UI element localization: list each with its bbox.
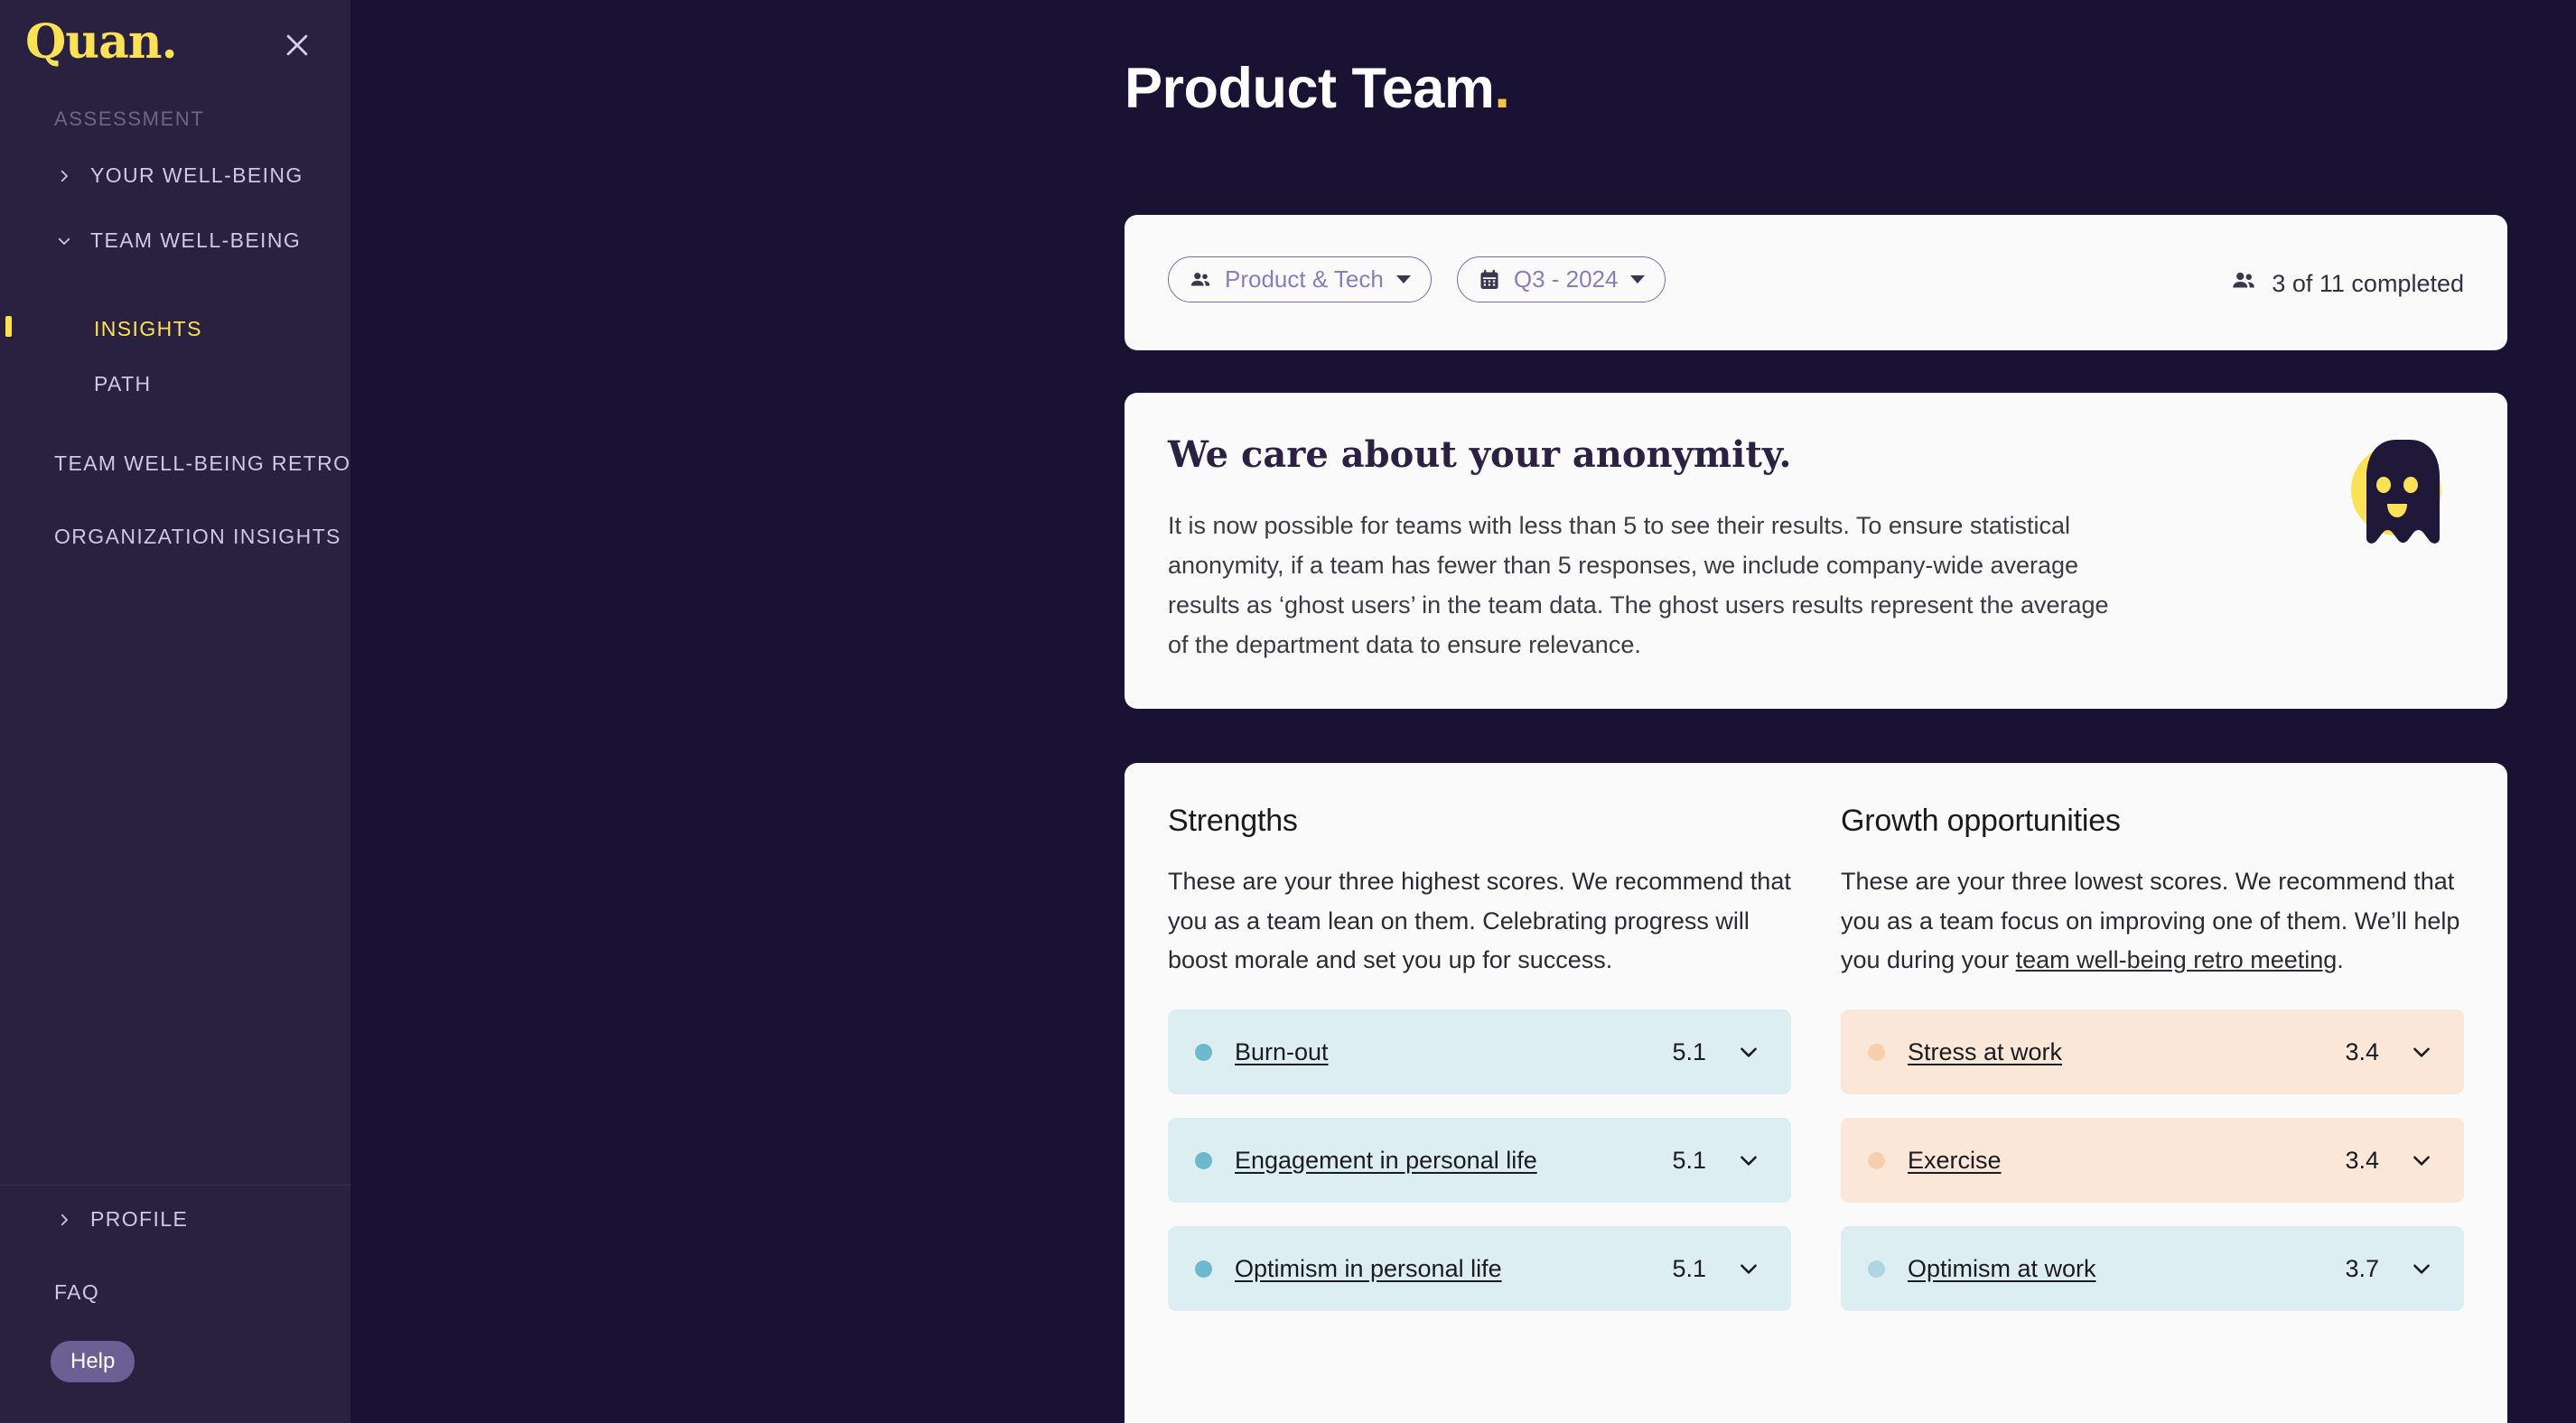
sidebar-item-label: YOUR WELL-BEING [90, 163, 303, 188]
growth-body: These are your three lowest scores. We r… [1841, 862, 2464, 981]
score-row[interactable]: Engagement in personal life 5.1 [1168, 1118, 1791, 1203]
sidebar-item-label: TEAM WELL-BEING RETRO [54, 451, 350, 476]
score-dot-icon [1868, 1260, 1885, 1278]
active-indicator-bar [5, 316, 12, 337]
chevron-down-icon [1630, 275, 1645, 284]
score-label[interactable]: Stress at work [1908, 1038, 2062, 1066]
score-dot-icon [1195, 1152, 1212, 1169]
close-icon[interactable] [282, 30, 313, 60]
sidebar-item-insights[interactable]: INSIGHTS [94, 317, 202, 341]
anonymity-card: We care about your anonymity. It is now … [1125, 393, 2507, 709]
page-title: Product Team. [1125, 56, 1509, 121]
score-dot-icon [1868, 1152, 1885, 1169]
sidebar-item-path[interactable]: PATH [94, 372, 152, 396]
sidebar-item-team-well-being-retro[interactable]: TEAM WELL-BEING RETRO [54, 451, 350, 476]
sidebar-item-team-well-being[interactable]: TEAM WELL-BEING [54, 228, 301, 253]
score-row[interactable]: Optimism at work 3.7 [1841, 1226, 2464, 1311]
chevron-down-icon[interactable] [1737, 1149, 1760, 1172]
page-title-accent: . [1494, 57, 1509, 120]
chevron-down-icon [1396, 275, 1411, 284]
sidebar-item-label: TEAM WELL-BEING [90, 228, 301, 253]
score-dot-icon [1195, 1260, 1212, 1278]
score-value: 5.1 [1672, 1147, 1706, 1175]
sidebar-divider [0, 1185, 350, 1186]
chevron-down-icon [54, 231, 74, 251]
growth-body-after: . [2337, 946, 2344, 973]
strengths-heading: Strengths [1168, 804, 1791, 839]
sidebar-item-label: INSIGHTS [94, 317, 202, 341]
sidebar: Quan. ASSESSMENT YOUR WELL-BEING TEAM WE… [0, 0, 350, 1423]
score-label[interactable]: Engagement in personal life [1235, 1147, 1537, 1175]
chevron-down-icon[interactable] [1737, 1040, 1760, 1064]
filter-controls: Product & Tech [1168, 256, 1666, 302]
ghost-icon [2339, 429, 2453, 555]
score-dot-icon [1868, 1044, 1885, 1061]
strengths-column: Strengths These are your three highest s… [1168, 804, 1791, 1311]
strengths-body: These are your three highest scores. We … [1168, 862, 1791, 981]
completion-status: 3 of 11 completed [2230, 267, 2464, 301]
app-logo[interactable]: Quan. [25, 14, 177, 70]
anonymity-body: It is now possible for teams with less t… [1168, 506, 2134, 665]
score-row[interactable]: Stress at work 3.4 [1841, 1009, 2464, 1094]
anonymity-heading: We care about your anonymity. [1168, 433, 1791, 476]
people-icon [1189, 268, 1212, 292]
sidebar-item-profile[interactable]: PROFILE [54, 1207, 188, 1232]
chevron-down-icon[interactable] [2410, 1257, 2433, 1280]
people-icon [2230, 267, 2257, 301]
logo-text: Quan [25, 14, 162, 70]
score-value: 5.1 [1672, 1255, 1706, 1283]
scores-card: Strengths These are your three highest s… [1125, 763, 2507, 1423]
growth-heading: Growth opportunities [1841, 804, 2464, 839]
filter-bar-card: Product & Tech [1125, 215, 2507, 350]
chevron-down-icon[interactable] [2410, 1040, 2433, 1064]
app-root: Quan. ASSESSMENT YOUR WELL-BEING TEAM WE… [0, 0, 2576, 1423]
score-row[interactable]: Exercise 3.4 [1841, 1118, 2464, 1203]
growth-rows: Stress at work 3.4 Exercise 3.4 [1841, 1009, 2464, 1311]
calendar-icon [1478, 268, 1501, 292]
score-value: 5.1 [1672, 1038, 1706, 1066]
score-label[interactable]: Exercise [1908, 1147, 2002, 1175]
score-value: 3.4 [2345, 1038, 2379, 1066]
sidebar-item-organization-insights[interactable]: ORGANIZATION INSIGHTS [54, 525, 341, 549]
sidebar-item-label: PATH [94, 372, 152, 396]
chevron-down-icon[interactable] [2410, 1149, 2433, 1172]
sidebar-item-label: PROFILE [90, 1207, 188, 1232]
score-label[interactable]: Optimism at work [1908, 1255, 2096, 1283]
main-content: Product Team. Product & Tech [350, 0, 2576, 1423]
sidebar-section-label: ASSESSMENT [54, 107, 204, 131]
score-row[interactable]: Optimism in personal life 5.1 [1168, 1226, 1791, 1311]
score-row[interactable]: Burn-out 5.1 [1168, 1009, 1791, 1094]
sidebar-item-label: FAQ [54, 1280, 99, 1305]
team-filter-label: Product & Tech [1225, 265, 1384, 293]
period-filter-label: Q3 - 2024 [1514, 265, 1619, 293]
chevron-down-icon[interactable] [1737, 1257, 1760, 1280]
completion-status-text: 3 of 11 completed [2272, 270, 2464, 298]
score-value: 3.7 [2345, 1255, 2379, 1283]
retro-meeting-link[interactable]: team well-being retro meeting [2016, 946, 2338, 973]
help-button[interactable]: Help [51, 1341, 135, 1382]
score-label[interactable]: Optimism in personal life [1235, 1255, 1502, 1283]
logo-dot: . [162, 14, 177, 70]
team-filter-dropdown[interactable]: Product & Tech [1168, 256, 1432, 302]
strengths-rows: Burn-out 5.1 Engagement in personal life… [1168, 1009, 1791, 1311]
growth-column: Growth opportunities These are your thre… [1841, 804, 2464, 1311]
sidebar-item-your-well-being[interactable]: YOUR WELL-BEING [54, 163, 303, 188]
chevron-right-icon [54, 166, 74, 186]
score-label[interactable]: Burn-out [1235, 1038, 1329, 1066]
score-value: 3.4 [2345, 1147, 2379, 1175]
sidebar-item-label: ORGANIZATION INSIGHTS [54, 525, 341, 549]
chevron-right-icon [54, 1210, 74, 1230]
period-filter-dropdown[interactable]: Q3 - 2024 [1457, 256, 1666, 302]
score-dot-icon [1195, 1044, 1212, 1061]
page-title-text: Product Team [1125, 57, 1494, 120]
sidebar-item-faq[interactable]: FAQ [54, 1280, 99, 1305]
